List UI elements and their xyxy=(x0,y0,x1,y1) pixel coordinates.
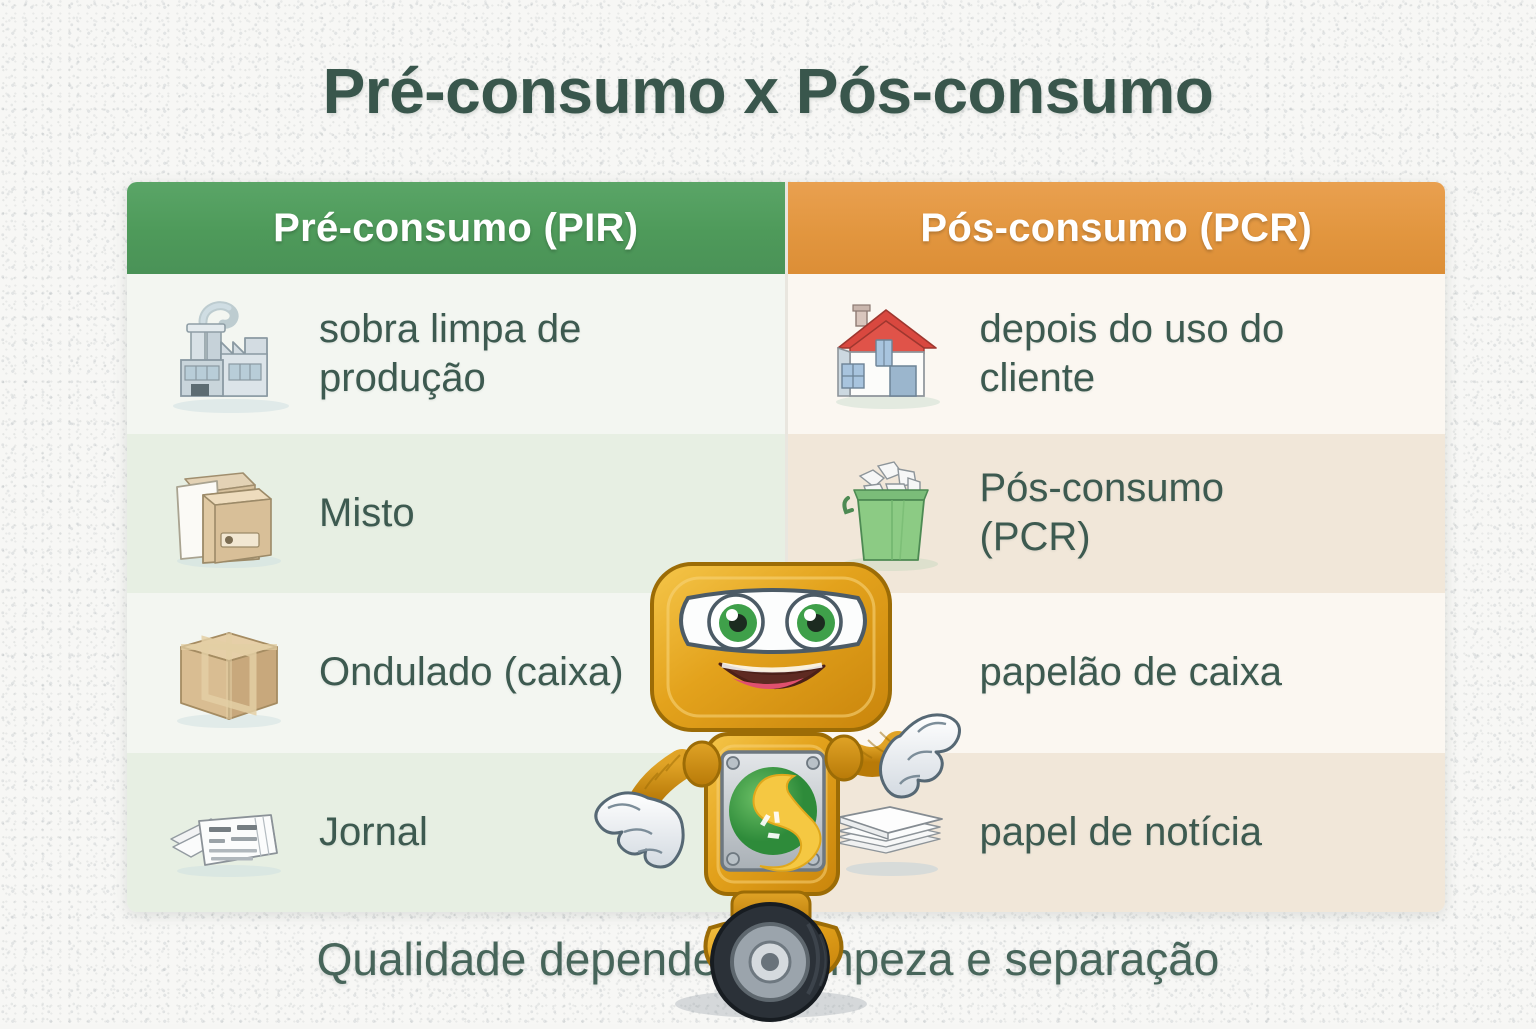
row-label: Misto xyxy=(319,489,415,538)
mixed-paper-boxes-icon xyxy=(153,448,305,578)
column-header-pre-consumo: Pré-consumo (PIR) xyxy=(127,182,785,274)
row-label: Ondulado (caixa) xyxy=(319,648,624,697)
row-label: Pós-consumo (PCR) xyxy=(980,464,1310,562)
column-pos-consumo: Pós-consumo (PCR) xyxy=(788,182,1446,912)
table-row[interactable]: Ondulado (caixa) xyxy=(127,593,785,753)
table-row[interactable]: papelão de caixa xyxy=(788,593,1446,753)
newspaper-stack-icon xyxy=(153,767,305,897)
table-row[interactable]: Misto xyxy=(127,434,785,594)
paper-stack-icon xyxy=(814,767,966,897)
table-row[interactable]: Jornal xyxy=(127,753,785,913)
house-icon xyxy=(814,289,966,419)
table-row[interactable]: sobra limpa de produção xyxy=(127,274,785,434)
footer-caption: Qualidade depende de limpeza e separação xyxy=(0,932,1536,986)
page-title: Pré-consumo x Pós-consumo xyxy=(0,54,1536,128)
row-label: Jornal xyxy=(319,808,428,857)
table-row[interactable]: Pós-consumo (PCR) xyxy=(788,434,1446,594)
row-label: papelão de caixa xyxy=(980,648,1282,697)
recycling-bin-icon xyxy=(814,448,966,578)
table-row[interactable]: papel de notícia xyxy=(788,753,1446,913)
column-pre-consumo: Pré-consumo (PIR) xyxy=(127,182,788,912)
factory-icon xyxy=(153,289,305,419)
pointing-hand-icon xyxy=(814,608,966,738)
row-label: sobra limpa de produção xyxy=(319,305,649,403)
column-header-pos-consumo: Pós-consumo (PCR) xyxy=(788,182,1446,274)
table-row[interactable]: depois do uso do cliente xyxy=(788,274,1446,434)
cardboard-box-icon xyxy=(153,608,305,738)
comparison-table: Pré-consumo (PIR) xyxy=(127,182,1445,912)
row-label: depois do uso do cliente xyxy=(980,305,1310,403)
row-label: papel de notícia xyxy=(980,808,1262,857)
